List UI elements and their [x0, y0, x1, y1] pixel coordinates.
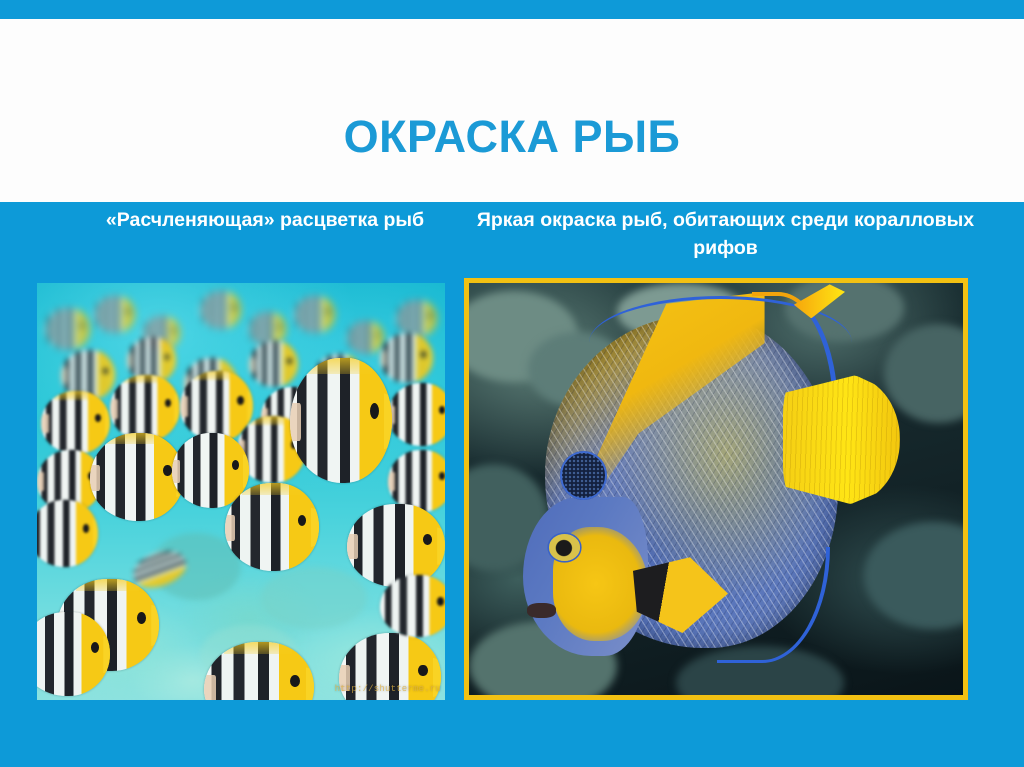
slide: ОКРАСКА РЫБ «Расчленяющая» расцветка рыб… — [0, 0, 1024, 767]
fish — [347, 321, 384, 354]
fish — [380, 333, 433, 383]
queen-angelfish-photo — [464, 278, 968, 700]
fish — [225, 483, 319, 571]
caption-row: «Расчленяющая» расцветка рыб Яркая окрас… — [0, 204, 1024, 266]
fish — [45, 308, 90, 350]
fish — [396, 300, 437, 338]
page-title: ОКРАСКА РЫБ — [0, 112, 1024, 162]
queen-angelfish — [523, 299, 889, 678]
photo-watermark: http://shutterme.ru — [335, 684, 441, 694]
school-of-butterflyfish-photo: http://shutterme.ru — [37, 283, 445, 700]
fish — [290, 358, 392, 483]
coral-rock — [261, 567, 367, 630]
fish — [249, 341, 298, 387]
caption-right: Яркая окраска рыб, обитающих среди корал… — [468, 206, 983, 262]
fish — [90, 433, 184, 521]
fish — [37, 500, 98, 567]
photo-inner — [469, 283, 963, 695]
fish — [388, 383, 445, 446]
fish — [110, 375, 179, 442]
fish — [200, 291, 241, 329]
caption-left: «Расчленяющая» расцветка рыб — [55, 206, 475, 234]
fish-mouth — [527, 603, 556, 618]
fish — [294, 296, 335, 334]
tail-fin — [783, 375, 900, 504]
fish — [388, 450, 445, 513]
fish — [41, 391, 110, 454]
fish — [347, 504, 445, 587]
fish-eye — [549, 534, 580, 561]
top-accent-bar — [0, 0, 1024, 19]
fish — [94, 296, 135, 334]
